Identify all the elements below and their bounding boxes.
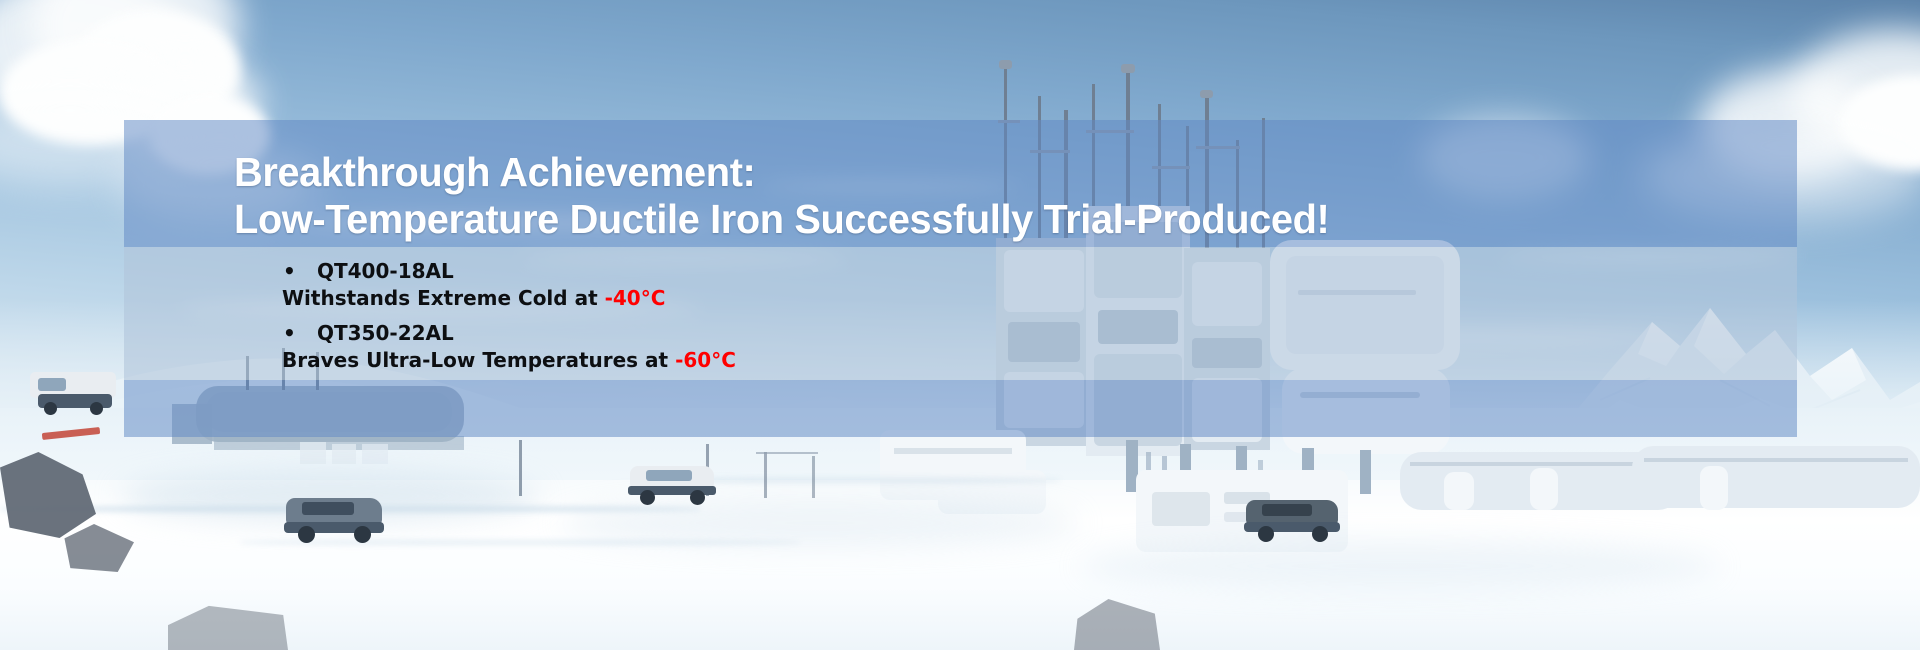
bullet-2-grade: QT350-22AL	[317, 321, 454, 345]
bullet-1-description-row: Withstands Extreme Cold at -40°C	[0, 285, 1673, 312]
bullet-2-description: Braves Ultra-Low Temperatures at	[282, 348, 675, 372]
bullet-1-marker-icon: •	[283, 258, 317, 285]
bullet-item-1: •QT400-18AL Withstands Extreme Cold at -…	[0, 258, 1673, 312]
bullet-2-grade-row: •QT350-22AL	[0, 320, 1673, 347]
bullet-2-marker-icon: •	[283, 320, 317, 347]
bullet-item-2: •QT350-22AL Braves Ultra-Low Temperature…	[0, 320, 1673, 374]
bullet-1-grade: QT400-18AL	[317, 259, 454, 283]
bullet-1-grade-row: •QT400-18AL	[0, 258, 1673, 285]
overlay-band-footer	[124, 380, 1797, 437]
promo-banner: Breakthrough Achievement: Low-Temperatur…	[0, 0, 1920, 650]
headline-line-2: Low-Temperature Ductile Iron Successfull…	[234, 199, 1747, 240]
headline-line-1: Breakthrough Achievement:	[234, 152, 1747, 193]
bullet-2-temperature: -60°C	[675, 348, 736, 372]
headline: Breakthrough Achievement: Low-Temperatur…	[234, 152, 1794, 240]
bullet-1-temperature: -40°C	[605, 286, 666, 310]
bullet-1-description: Withstands Extreme Cold at	[282, 286, 605, 310]
bullet-2-description-row: Braves Ultra-Low Temperatures at -60°C	[0, 347, 1673, 374]
